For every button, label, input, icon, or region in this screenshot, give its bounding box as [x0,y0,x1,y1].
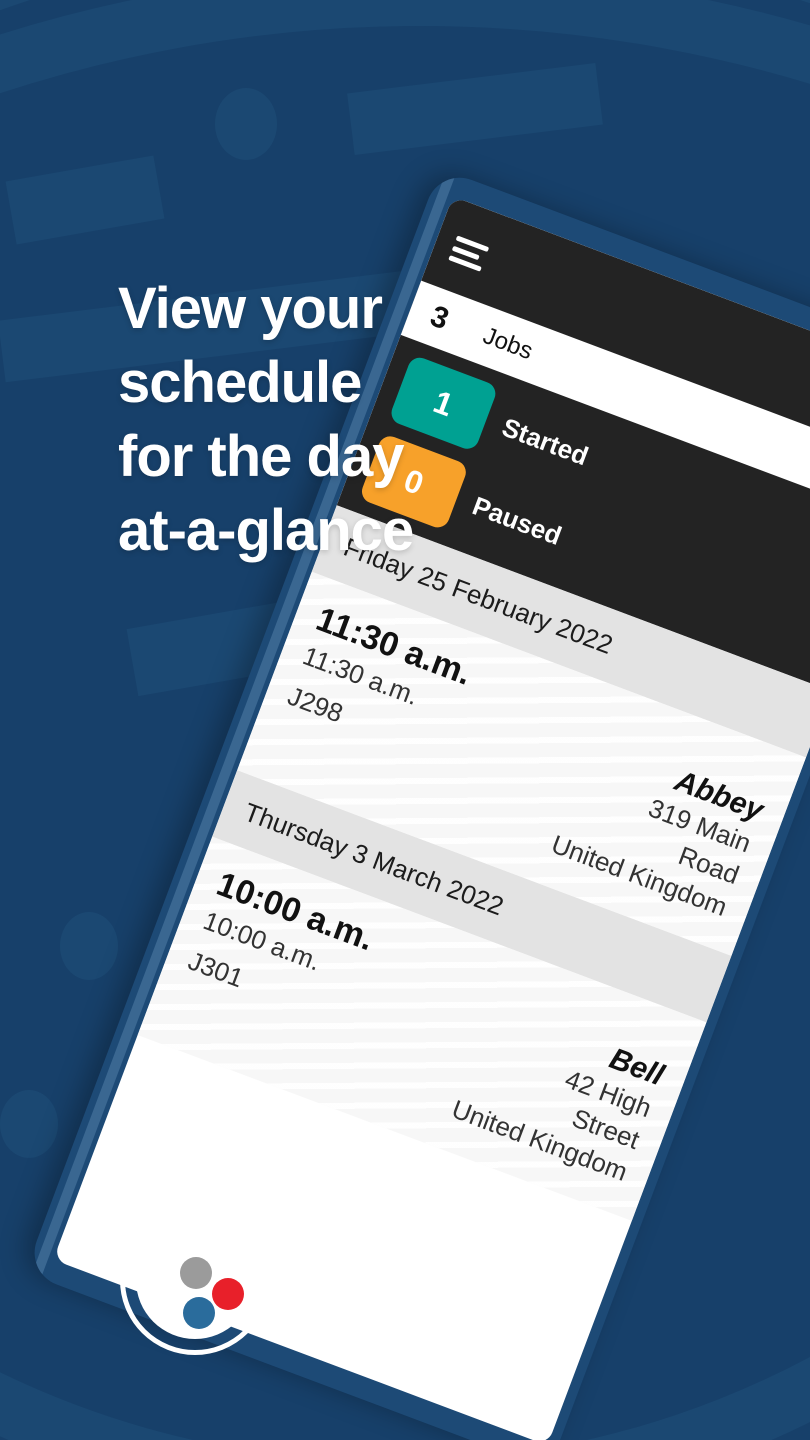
background-dot [60,912,118,980]
logo-inner-circle [136,1221,254,1339]
background-block [347,63,603,155]
headline-line-1: View your [118,272,588,346]
event-left-column: 11:30 a.m. 11:30 a.m. J298 [267,600,477,811]
background-dot [215,88,277,160]
headline-line-3: for the day [118,420,588,494]
headline-line-2: schedule [118,346,588,420]
promo-screenshot: View your schedule for the day at-a-glan… [0,0,810,1440]
headline-line-4: at-a-glance [118,494,588,568]
event-left-column: 10:00 a.m. 10:00 a.m. J301 [167,865,379,1076]
hamburger-icon[interactable] [448,235,489,271]
logo-dot-red-icon [212,1278,244,1310]
background-dot [0,1090,58,1158]
background-block [6,155,165,244]
logo-dot-grey-icon [180,1257,212,1289]
app-logo [120,1205,270,1355]
page-title: View your schedule for the day at-a-glan… [118,272,588,568]
logo-dot-blue-icon [183,1297,215,1329]
